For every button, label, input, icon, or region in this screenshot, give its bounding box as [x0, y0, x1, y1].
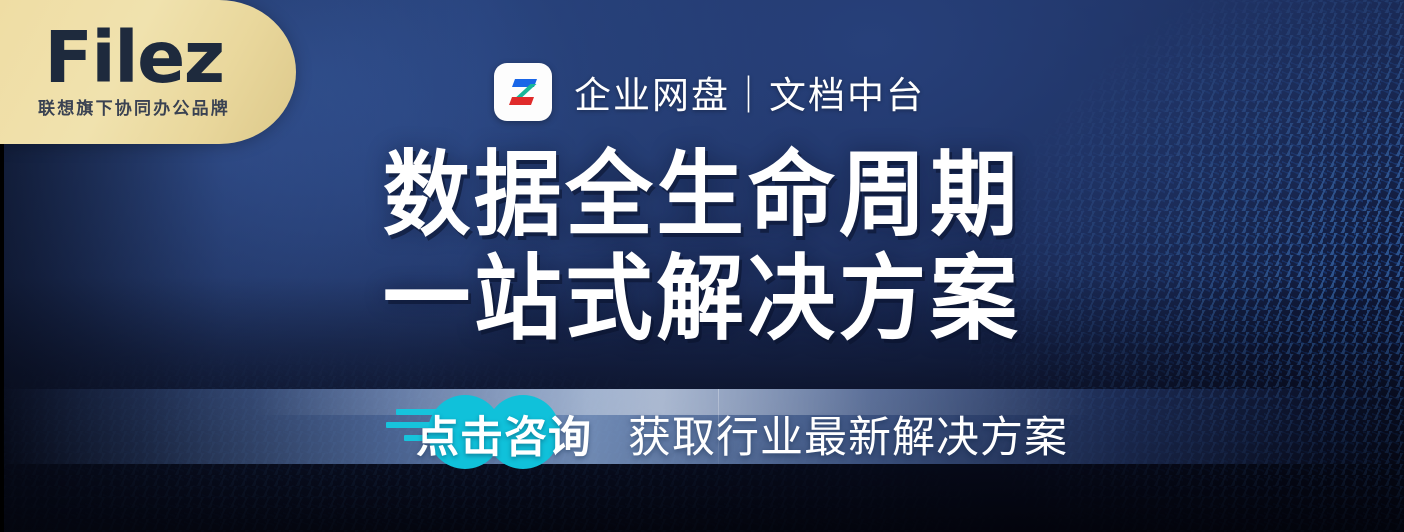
headline: 数据全生命周期 一站式解决方案 [0, 143, 1404, 351]
headline-line-2: 一站式解决方案 [42, 247, 1362, 351]
cta-primary-button[interactable]: 点击咨询 [416, 403, 592, 465]
brand-tagline: 联想旗下协同办公品牌 [38, 94, 230, 119]
marketing-banner: Filez 联想旗下协同办公品牌 企业网盘｜文档中台 数据全生命周期 一站式解决… [0, 0, 1404, 532]
cta-content: 点击咨询 获取行业最新解决方案 [0, 389, 1404, 464]
product-identity: 企业网盘｜文档中台 [494, 63, 925, 121]
product-name: 企业网盘｜文档中台 [574, 65, 925, 119]
cta-secondary-text[interactable]: 获取行业最新解决方案 [628, 403, 1068, 465]
brand-badge: Filez 联想旗下协同办公品牌 [0, 0, 296, 144]
brand-wordmark: Filez [44, 25, 223, 90]
headline-line-1: 数据全生命周期 [42, 143, 1362, 247]
filez-z-logo-icon [494, 63, 552, 121]
